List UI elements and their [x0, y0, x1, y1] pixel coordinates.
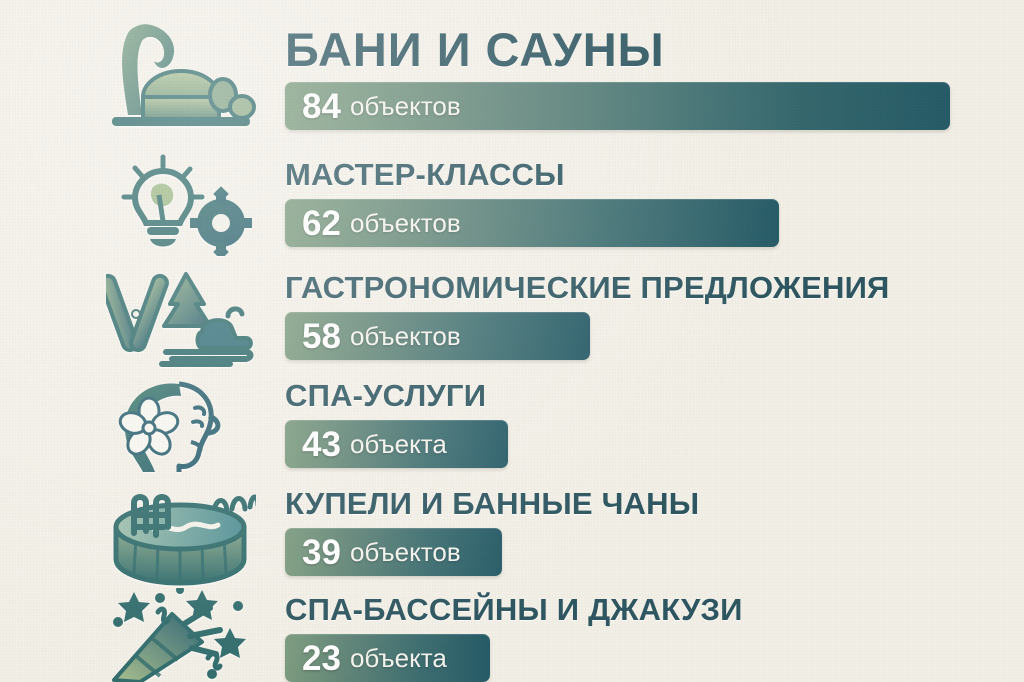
- row-title-gastronomy: ГАСТРОНОМИЧЕСКИЕ ПРЕДЛОЖЕНИЯ: [285, 272, 890, 303]
- hot-tub-icon: [96, 480, 266, 592]
- bar-spa-services: 43 объекта: [285, 420, 508, 468]
- row-title-spa-pools: СПА-БАССЕЙНЫ И ДЖАКУЗИ: [285, 594, 743, 625]
- chart-row-content: БАНИ И САУНЫ 84 объектов: [285, 26, 950, 130]
- bar-banya-sauna: 84 объектов: [285, 82, 950, 130]
- bar-value: 43: [302, 427, 341, 462]
- bar-master-classes: 62 объектов: [285, 199, 779, 247]
- bar-tubs: 39 объектов: [285, 528, 502, 576]
- bar-unit: объектов: [350, 323, 461, 349]
- bar-spa-pools: 23 объекта: [285, 634, 490, 682]
- bar-value: 84: [302, 89, 341, 124]
- bar-unit: объектов: [350, 539, 461, 565]
- page-title: БАНИ И САУНЫ: [285, 26, 950, 73]
- bar-unit: объектов: [350, 210, 461, 236]
- bar-value: 23: [302, 641, 341, 676]
- bar-unit: объекта: [350, 645, 447, 671]
- chart-row-content: ГАСТРОНОМИЧЕСКИЕ ПРЕДЛОЖЕНИЯ 58 объектов: [285, 272, 890, 360]
- lightbulb-gear-icon: [96, 147, 266, 259]
- bar-value: 62: [302, 206, 341, 241]
- chart-row-content: МАСТЕР-КЛАССЫ 62 объектов: [285, 159, 779, 247]
- row-title-tubs: КУПЕЛИ И БАННЫЕ ЧАНЫ: [285, 488, 699, 519]
- chart-row-content: СПА-БАССЕЙНЫ И ДЖАКУЗИ 23 объекта: [285, 594, 743, 682]
- skis-tree-snowmobile-icon: [96, 262, 266, 374]
- sauna-stove-icon: [96, 18, 266, 130]
- bar-unit: объекта: [350, 431, 447, 457]
- row-title-master-classes: МАСТЕР-КЛАССЫ: [285, 159, 779, 190]
- chart-row-content: СПА-УСЛУГИ 43 объекта: [285, 380, 508, 468]
- woman-face-flower-icon: [96, 372, 266, 484]
- bar-unit: объектов: [350, 93, 461, 119]
- party-popper-icon: [96, 588, 266, 682]
- row-title-spa-services: СПА-УСЛУГИ: [285, 380, 508, 411]
- bar-value: 58: [302, 319, 341, 354]
- infographic-chart: БАНИ И САУНЫ 84 объектов: [0, 0, 1024, 682]
- bar-gastronomy: 58 объектов: [285, 312, 590, 360]
- chart-row-content: КУПЕЛИ И БАННЫЕ ЧАНЫ 39 объектов: [285, 488, 699, 576]
- bar-value: 39: [302, 535, 341, 570]
